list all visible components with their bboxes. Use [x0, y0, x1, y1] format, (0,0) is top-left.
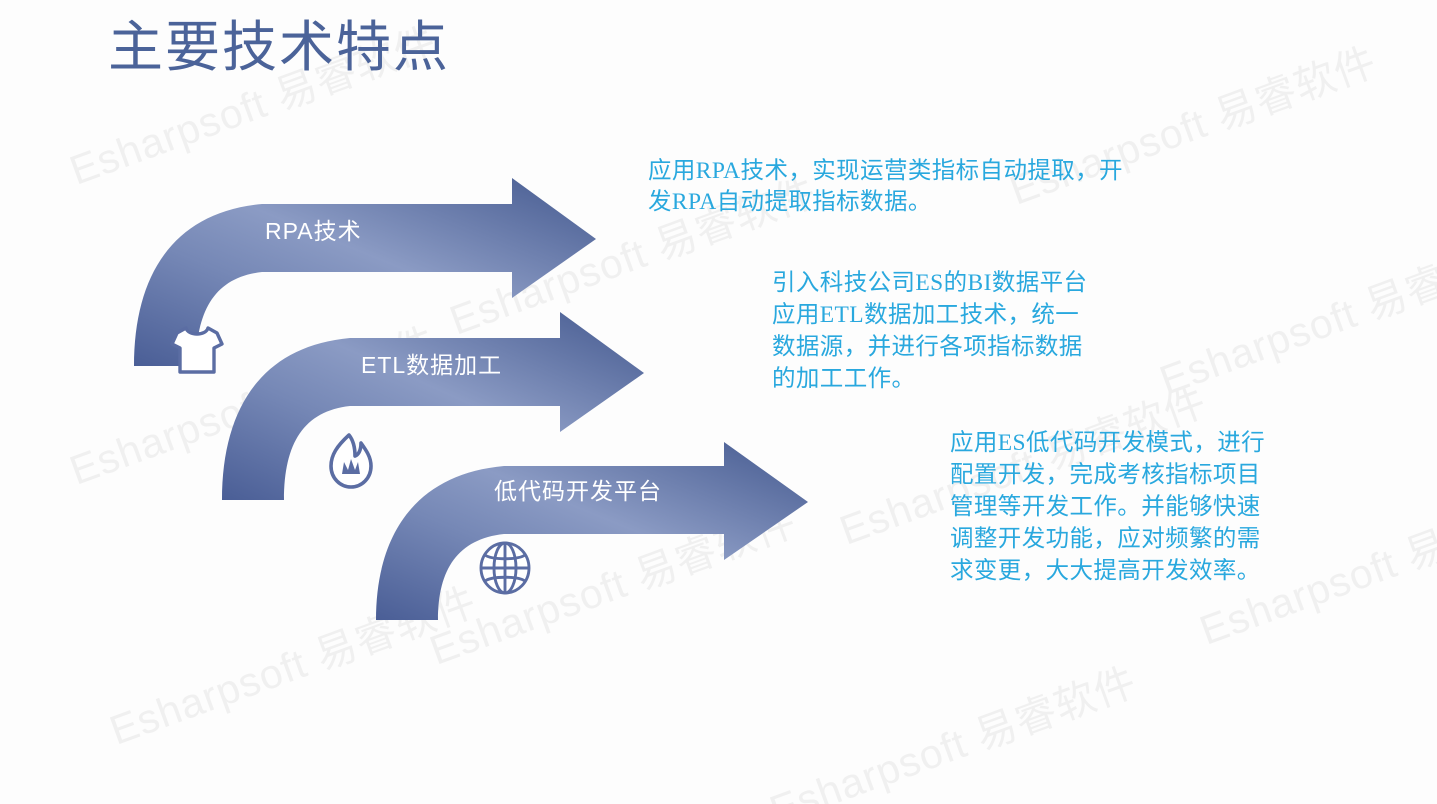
description-2-line: 引入科技公司ES的BI数据平台: [772, 268, 1192, 300]
arrow-label-2: ETL数据加工: [361, 346, 502, 380]
description-1: 应用RPA技术，实现运营类指标自动提取，开 发RPA自动提取指标数据。: [648, 156, 1218, 219]
arrow-label-3: 低代码开发平台: [494, 472, 662, 506]
globe-icon: [478, 540, 532, 596]
tshirt-icon: [168, 322, 226, 378]
description-2-line: 数据源，并进行各项指标数据: [772, 332, 1192, 364]
watermark-layer: Esharpsoft 易睿软件 Esharpsoft 易睿软件 Esharpso…: [0, 0, 1437, 804]
process-arrow-3[interactable]: 低代码开发平台: [372, 442, 812, 622]
arrow-label-1: RPA技术: [265, 212, 362, 246]
page-title: 主要技术特点: [108, 16, 450, 80]
description-3-line: 应用ES低代码开发模式，进行: [950, 428, 1330, 460]
description-2-line: 应用ETL数据加工技术，统一: [772, 300, 1192, 332]
watermark-text: Esharpsoft 易睿软件: [760, 648, 1144, 804]
description-1-line: 应用RPA技术，实现运营类指标自动提取，开: [648, 156, 1218, 187]
description-3: 应用ES低代码开发模式，进行 配置开发，完成考核指标项目 管理等开发工作。并能够…: [950, 428, 1330, 588]
description-3-line: 配置开发，完成考核指标项目: [950, 460, 1330, 492]
description-2-line: 的加工工作。: [772, 364, 1192, 396]
flame-icon: [325, 432, 377, 490]
description-3-line: 调整开发功能，应对频繁的需: [950, 524, 1330, 556]
description-2: 引入科技公司ES的BI数据平台 应用ETL数据加工技术，统一 数据源，并进行各项…: [772, 268, 1192, 396]
description-1-line: 发RPA自动提取指标数据。: [648, 187, 1218, 218]
slide-canvas: Esharpsoft 易睿软件 Esharpsoft 易睿软件 Esharpso…: [0, 0, 1437, 804]
description-3-line: 求变更，大大提高开发效率。: [950, 556, 1330, 588]
watermark-text: Esharpsoft 易睿软件: [1150, 218, 1437, 407]
description-3-line: 管理等开发工作。并能够快速: [950, 492, 1330, 524]
